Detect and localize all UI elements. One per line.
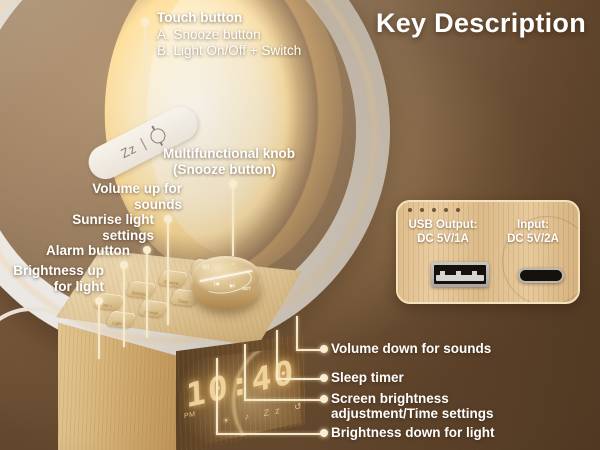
callout-sunrise-line2: settings (18, 228, 154, 244)
leader-volume-down-stem (296, 316, 298, 350)
dot-brightness-down (320, 429, 328, 437)
callout-screen-brightness-line1: Screen brightness (331, 391, 449, 407)
leader-brightness-up (98, 301, 100, 359)
callout-volume-down: Volume down for sounds (331, 341, 491, 357)
callout-alarm-line1: Alarm button (8, 243, 130, 259)
speaker-hole (444, 208, 448, 212)
leader-brightness-down (216, 433, 324, 435)
speaker-hole (456, 208, 460, 212)
input-label: Input: (488, 218, 578, 232)
leader-sleep-timer (276, 378, 324, 380)
dot-volume-down (320, 345, 328, 353)
infographic-canvas: Zz | 10:40 PM ☀ ♪ Zz ↺ Vol + Sunrise Sno… (0, 0, 600, 450)
input-label-group: Input: DC 5V/2A (488, 218, 578, 246)
usb-output-value: DC 5V/1A (398, 232, 488, 246)
usb-a-port-icon (431, 262, 489, 287)
port-callout-box: USB Output: DC 5V/1A Input: DC 5V/2A (396, 200, 580, 304)
speaker-hole (432, 208, 436, 212)
usb-a-cavity (434, 265, 486, 284)
dot-brightness-up (95, 297, 103, 305)
leader-touch-button (144, 22, 146, 82)
speaker-holes (408, 208, 460, 212)
callout-screen-brightness-line2: adjustment/Time settings (331, 406, 494, 422)
callout-knob-line2: (Snooze button) (173, 162, 276, 178)
speaker-hole (408, 208, 412, 212)
leader-sleep-timer-stem (276, 330, 278, 379)
usb-output-label: USB Output: (398, 218, 488, 232)
usb-a-contacts (436, 275, 484, 281)
leader-screen-brightness (244, 399, 324, 401)
callout-touch-button-heading: Touch button (157, 10, 242, 26)
callout-sunrise-line1: Sunrise light (18, 212, 154, 228)
dot-volume-up (164, 215, 172, 223)
callout-brightness-up-line2: for light (0, 279, 104, 295)
speaker-hole (420, 208, 424, 212)
callout-brightness-down: Brightness down for light (331, 425, 495, 441)
callout-touch-button-line-b: B. Light On/Off + Switch (157, 43, 301, 59)
leader-volume-up (167, 219, 169, 325)
callout-knob-line1: Multifunctional knob (163, 146, 295, 162)
dot-sunrise (143, 246, 151, 254)
callout-brightness-up-line1: Brightness up (0, 263, 104, 279)
callout-volume-up-line2: sounds (30, 197, 182, 213)
usb-output-label-group: USB Output: DC 5V/1A (398, 218, 488, 246)
leader-screen-brightness-stem (244, 344, 246, 400)
leader-knob (232, 184, 234, 256)
port-labels: USB Output: DC 5V/1A Input: DC 5V/2A (398, 218, 578, 246)
leader-alarm (123, 265, 125, 347)
callout-touch-button-line-a: A. Snooze button (157, 27, 261, 43)
input-value: DC 5V/2A (488, 232, 578, 246)
dot-sleep-timer (320, 374, 328, 382)
dot-knob (229, 180, 237, 188)
usb-c-port-icon (518, 268, 564, 283)
page-title: Key Description (376, 8, 586, 39)
leader-sunrise (146, 250, 148, 338)
dot-alarm (120, 261, 128, 269)
dot-screen-brightness (320, 395, 328, 403)
leader-brightness-down-stem (216, 358, 218, 434)
callout-sleep-timer: Sleep timer (331, 370, 404, 386)
dot-touch-button (141, 18, 149, 26)
callout-volume-up-line1: Volume up for (30, 181, 182, 197)
